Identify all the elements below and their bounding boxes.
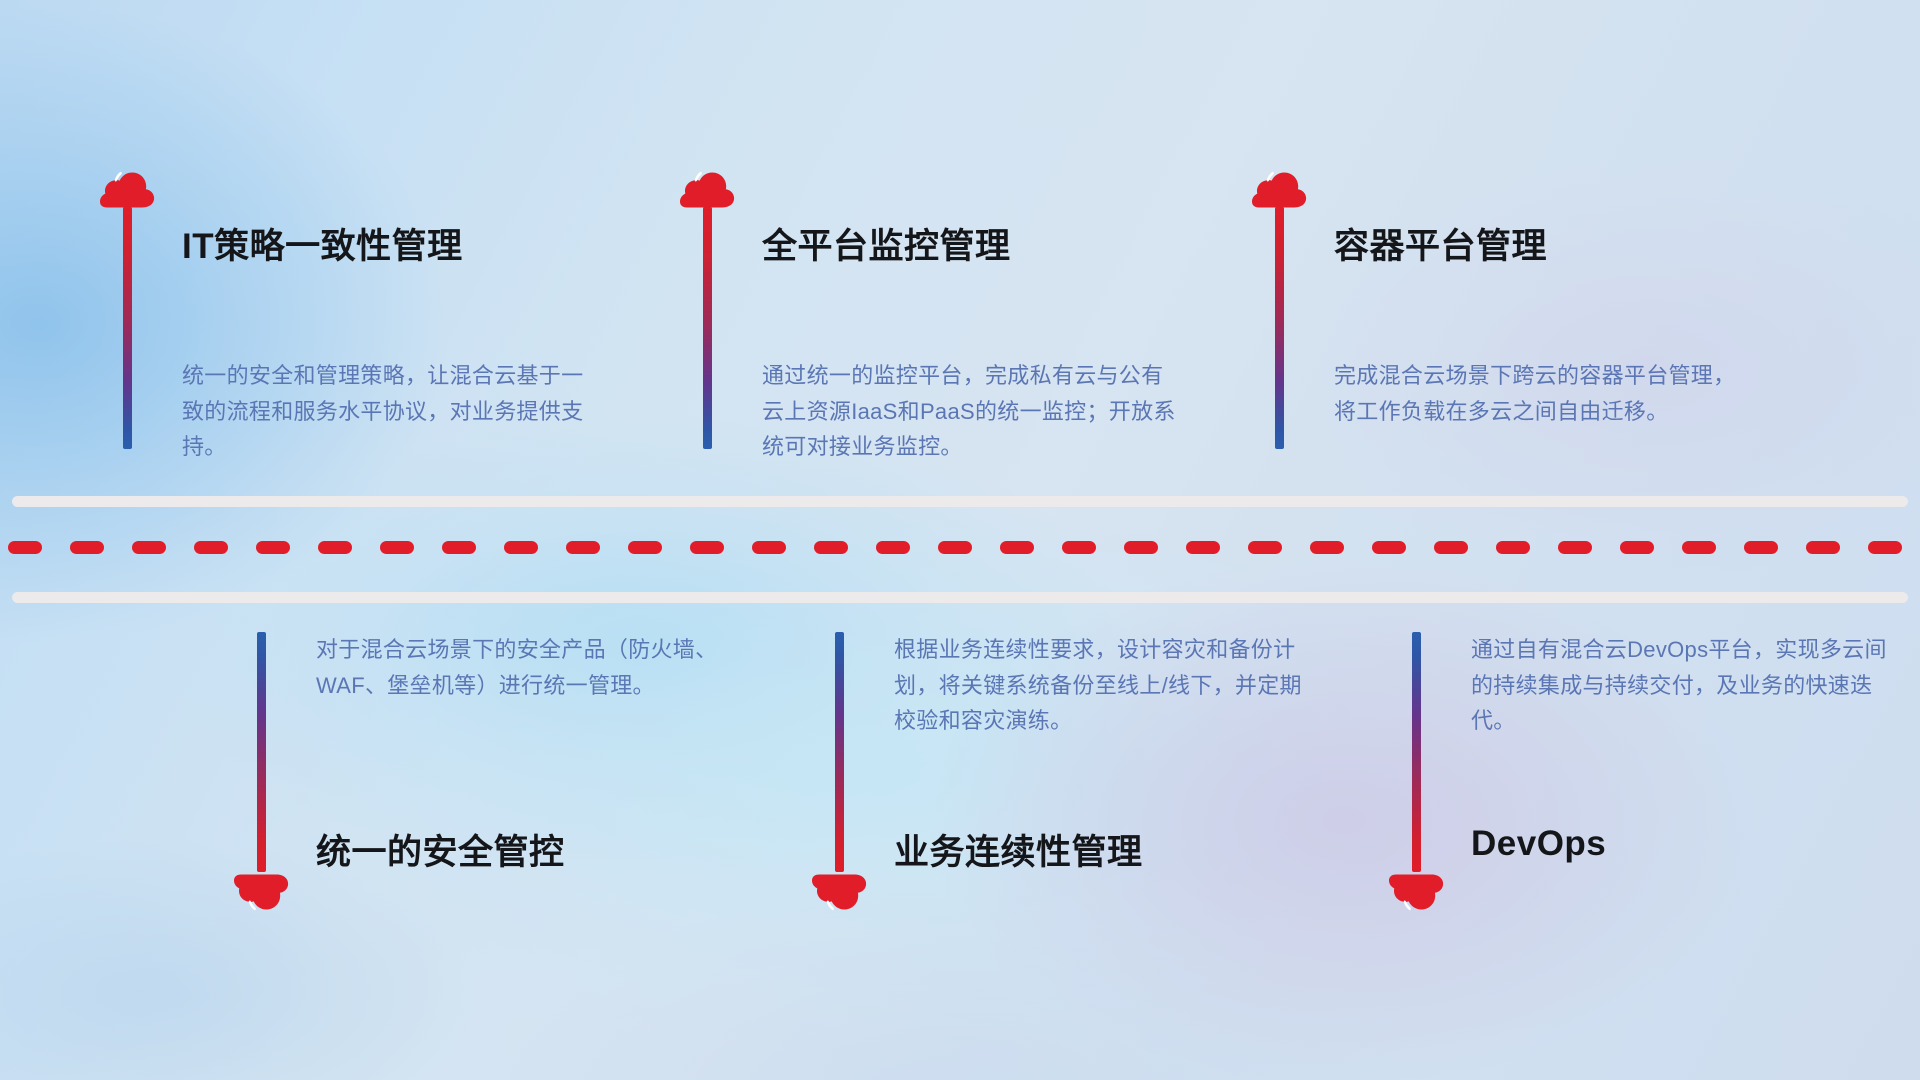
cloud-icon (808, 874, 872, 920)
card-body: 通过自有混合云DevOps平台，实现多云间的持续集成与持续交付，及业务的快速迭代… (1471, 632, 1889, 739)
road-dash (380, 541, 414, 554)
road-dash (628, 541, 662, 554)
road-dash (442, 541, 476, 554)
road-dash (1372, 541, 1406, 554)
pin-stem (703, 207, 712, 449)
card-body-text: 对于混合云场景下的安全产品（防火墙、WAF、堡垒机等）进行统一管理。 (316, 632, 734, 703)
card-title: DevOps (1471, 824, 1606, 864)
road-line-upper (12, 496, 1908, 507)
road-dash (1868, 541, 1902, 554)
infographic-canvas: IT策略一致性管理 统一的安全和管理策略，让混合云基于一致的流程和服务水平协议，… (0, 0, 1920, 1080)
card-title: 容器平台管理 (1334, 218, 1547, 269)
road-dash (1434, 541, 1468, 554)
road-dash (1062, 541, 1096, 554)
cloud-icon (96, 162, 160, 208)
road-dash (1496, 541, 1530, 554)
pin-stem (1275, 207, 1284, 449)
road-dashed-centerline (0, 540, 1920, 554)
road-dash (876, 541, 910, 554)
card-body-text: 完成混合云场景下跨云的容器平台管理，将工作负载在多云之间自由迁移。 (1334, 358, 1752, 429)
road-dash (1248, 541, 1282, 554)
road-dash (1000, 541, 1034, 554)
card-title: 全平台监控管理 (762, 218, 1011, 269)
card-body-text: 根据业务连续性要求，设计容灾和备份计划，将关键系统备份至线上/线下，并定期校验和… (894, 632, 1312, 739)
cloud-icon (1248, 162, 1312, 208)
pin-stem (1412, 632, 1421, 872)
road-dash (194, 541, 228, 554)
road-dash (1558, 541, 1592, 554)
road-dash (752, 541, 786, 554)
road-dash (8, 541, 42, 554)
road-dash (504, 541, 538, 554)
road-dash (566, 541, 600, 554)
card-body: 通过统一的监控平台，完成私有云与公有云上资源IaaS和PaaS的统一监控；开放系… (762, 358, 1180, 465)
road-dash (1682, 541, 1716, 554)
road-dash (814, 541, 848, 554)
road-dash (256, 541, 290, 554)
card-body: 统一的安全和管理策略，让混合云基于一致的流程和服务水平协议，对业务提供支持。 (182, 358, 600, 465)
card-body-text: 统一的安全和管理策略，让混合云基于一致的流程和服务水平协议，对业务提供支持。 (182, 358, 600, 465)
card-body: 对于混合云场景下的安全产品（防火墙、WAF、堡垒机等）进行统一管理。 (316, 632, 734, 703)
pin-stem (257, 632, 266, 872)
cloud-icon (676, 162, 740, 208)
road-dash (1806, 541, 1840, 554)
road-dash (1310, 541, 1344, 554)
card-body-text: 通过自有混合云DevOps平台，实现多云间的持续集成与持续交付，及业务的快速迭代… (1471, 632, 1889, 739)
card-title: 业务连续性管理 (894, 824, 1143, 875)
card-title: 统一的安全管控 (316, 824, 565, 875)
pin-stem (835, 632, 844, 872)
road-dash (690, 541, 724, 554)
card-body: 根据业务连续性要求，设计容灾和备份计划，将关键系统备份至线上/线下，并定期校验和… (894, 632, 1312, 739)
road-dash (132, 541, 166, 554)
card-title: IT策略一致性管理 (182, 218, 463, 269)
road-line-lower (12, 592, 1908, 603)
cloud-icon (1385, 874, 1449, 920)
road-dash (1124, 541, 1158, 554)
pin-stem (123, 207, 132, 449)
road-dash (938, 541, 972, 554)
road-dash (1186, 541, 1220, 554)
road-dash (1744, 541, 1778, 554)
road-dash (318, 541, 352, 554)
card-body: 完成混合云场景下跨云的容器平台管理，将工作负载在多云之间自由迁移。 (1334, 358, 1752, 429)
cloud-icon (230, 874, 294, 920)
card-body-text: 通过统一的监控平台，完成私有云与公有云上资源IaaS和PaaS的统一监控；开放系… (762, 358, 1180, 465)
road-dash (1620, 541, 1654, 554)
road-dash (70, 541, 104, 554)
